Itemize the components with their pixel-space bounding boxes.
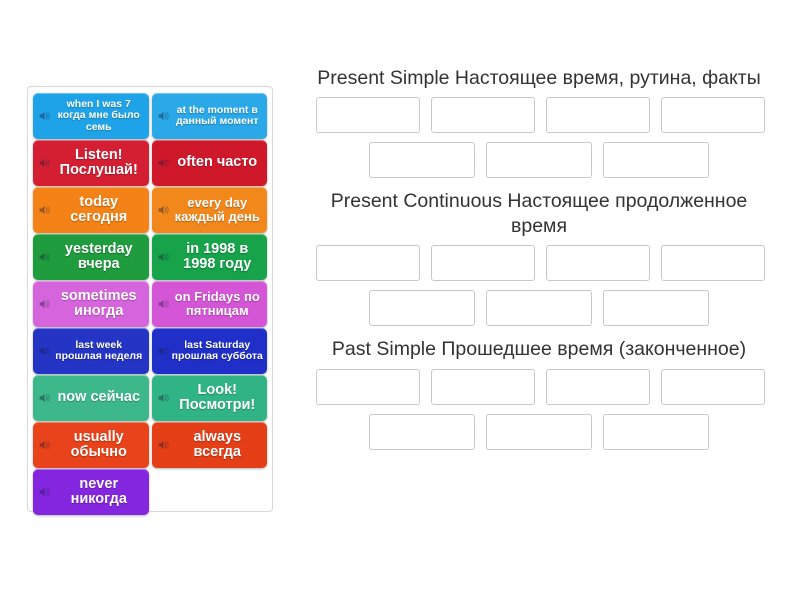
word-tile-t11[interactable]: last week прошлая неделя (33, 328, 149, 374)
word-tile-label: today сегодня (53, 195, 145, 226)
drop-zone-row (300, 142, 778, 178)
word-tile-label: in 1998 в 1998 году (172, 242, 264, 273)
word-tile-t9[interactable]: sometimes иногда (33, 281, 149, 327)
drop-zone-past-simple-0-3[interactable] (661, 369, 765, 405)
speaker-icon[interactable] (157, 204, 170, 217)
drop-zone-past-simple-0-1[interactable] (431, 369, 535, 405)
word-tile-t7[interactable]: yesterday вчера (33, 234, 149, 280)
speaker-icon[interactable] (38, 392, 51, 405)
drop-zone-present-continuous-0-3[interactable] (661, 245, 765, 281)
word-tile-label: sometimes иногда (53, 289, 145, 320)
category-present-continuous: Present Continuous Настоящее продолженно… (300, 189, 778, 326)
drop-zone-present-simple-0-2[interactable] (546, 97, 650, 133)
word-tile-label: yesterday вчера (53, 242, 145, 273)
speaker-icon[interactable] (157, 251, 170, 264)
category-past-simple: Past Simple Прошедшее время (законченное… (300, 337, 778, 449)
speaker-icon[interactable] (157, 439, 170, 452)
drop-zone-row (302, 245, 778, 281)
drop-zone-present-simple-0-0[interactable] (316, 97, 420, 133)
drop-zone-present-simple-1-2[interactable] (603, 142, 709, 178)
word-tile-t1[interactable]: when I was 7 когда мне было семь (33, 93, 149, 139)
speaker-icon[interactable] (38, 251, 51, 264)
word-tile-label: often часто (172, 155, 264, 171)
word-tile-label: at the moment в данный момент (172, 105, 264, 127)
category-title: Past Simple Прошедшее время (законченное… (300, 337, 778, 361)
drop-zone-row (300, 290, 778, 326)
category-title: Present Simple Настоящее время, рутина, … (300, 66, 778, 90)
word-tile-label: last week прошлая неделя (53, 340, 145, 362)
word-tile-t3[interactable]: Listen! Послушай! (33, 140, 149, 186)
drop-zone-past-simple-0-0[interactable] (316, 369, 420, 405)
speaker-icon[interactable] (38, 204, 51, 217)
word-tile-t2[interactable]: at the moment в данный момент (152, 93, 268, 139)
word-tile-label: last Saturday прошлая суббота (172, 340, 264, 362)
word-tile-label: Listen! Послушай! (53, 148, 145, 179)
word-tile-t15[interactable]: usually обычно (33, 422, 149, 468)
drop-zone-present-continuous-1-2[interactable] (603, 290, 709, 326)
word-tile-t12[interactable]: last Saturday прошлая суббота (152, 328, 268, 374)
speaker-icon[interactable] (157, 345, 170, 358)
drop-zone-present-continuous-0-2[interactable] (546, 245, 650, 281)
word-tile-t6[interactable]: every day каждый день (152, 187, 268, 233)
speaker-icon[interactable] (38, 439, 51, 452)
speaker-icon[interactable] (157, 298, 170, 311)
drop-zone-present-simple-0-3[interactable] (661, 97, 765, 133)
word-tile-grid: when I was 7 когда мне было семьat the m… (33, 93, 267, 515)
speaker-icon[interactable] (38, 110, 51, 123)
speaker-icon[interactable] (157, 392, 170, 405)
drop-zone-row (302, 97, 778, 133)
word-tile-t8[interactable]: in 1998 в 1998 году (152, 234, 268, 280)
drop-zone-present-simple-1-0[interactable] (369, 142, 475, 178)
word-tile-t17[interactable]: never никогда (33, 469, 149, 515)
category-present-simple: Present Simple Настоящее время, рутина, … (300, 66, 778, 178)
word-tile-label: every day каждый день (172, 196, 264, 224)
word-tile-label: on Fridays по пятницам (172, 290, 264, 318)
empty-tile-slot (152, 469, 268, 515)
word-tile-t4[interactable]: often часто (152, 140, 268, 186)
drop-zone-row (300, 414, 778, 450)
speaker-icon[interactable] (38, 298, 51, 311)
word-tile-t10[interactable]: on Fridays по пятницам (152, 281, 268, 327)
word-tile-label: usually обычно (53, 430, 145, 461)
drop-zone-present-continuous-1-0[interactable] (369, 290, 475, 326)
word-tile-t16[interactable]: always всегда (152, 422, 268, 468)
drop-zone-past-simple-1-0[interactable] (369, 414, 475, 450)
drop-zone-past-simple-1-2[interactable] (603, 414, 709, 450)
word-tile-t14[interactable]: Look! Посмотри! (152, 375, 268, 421)
drop-zone-present-simple-1-1[interactable] (486, 142, 592, 178)
word-tile-t13[interactable]: now сейчас (33, 375, 149, 421)
word-tile-label: always всегда (172, 430, 264, 461)
word-tile-label: Look! Посмотри! (172, 383, 264, 414)
category-title: Present Continuous Настоящее продолженно… (300, 189, 778, 238)
word-tile-label: when I was 7 когда мне было семь (53, 99, 145, 133)
drop-zone-present-simple-0-1[interactable] (431, 97, 535, 133)
drop-zone-present-continuous-1-1[interactable] (486, 290, 592, 326)
speaker-icon[interactable] (38, 345, 51, 358)
speaker-icon[interactable] (38, 157, 51, 170)
drop-zone-present-continuous-0-1[interactable] (431, 245, 535, 281)
speaker-icon[interactable] (38, 486, 51, 499)
word-tile-label: now сейчас (53, 390, 145, 406)
speaker-icon[interactable] (157, 157, 170, 170)
speaker-icon[interactable] (157, 110, 170, 123)
category-list: Present Simple Настоящее время, рутина, … (300, 66, 778, 461)
word-tile-label: never никогда (53, 477, 145, 508)
drop-zone-past-simple-0-2[interactable] (546, 369, 650, 405)
word-tile-tray: when I was 7 когда мне было семьat the m… (27, 86, 273, 512)
drop-zone-row (302, 369, 778, 405)
drop-zone-past-simple-1-1[interactable] (486, 414, 592, 450)
drop-zone-present-continuous-0-0[interactable] (316, 245, 420, 281)
word-tile-t5[interactable]: today сегодня (33, 187, 149, 233)
